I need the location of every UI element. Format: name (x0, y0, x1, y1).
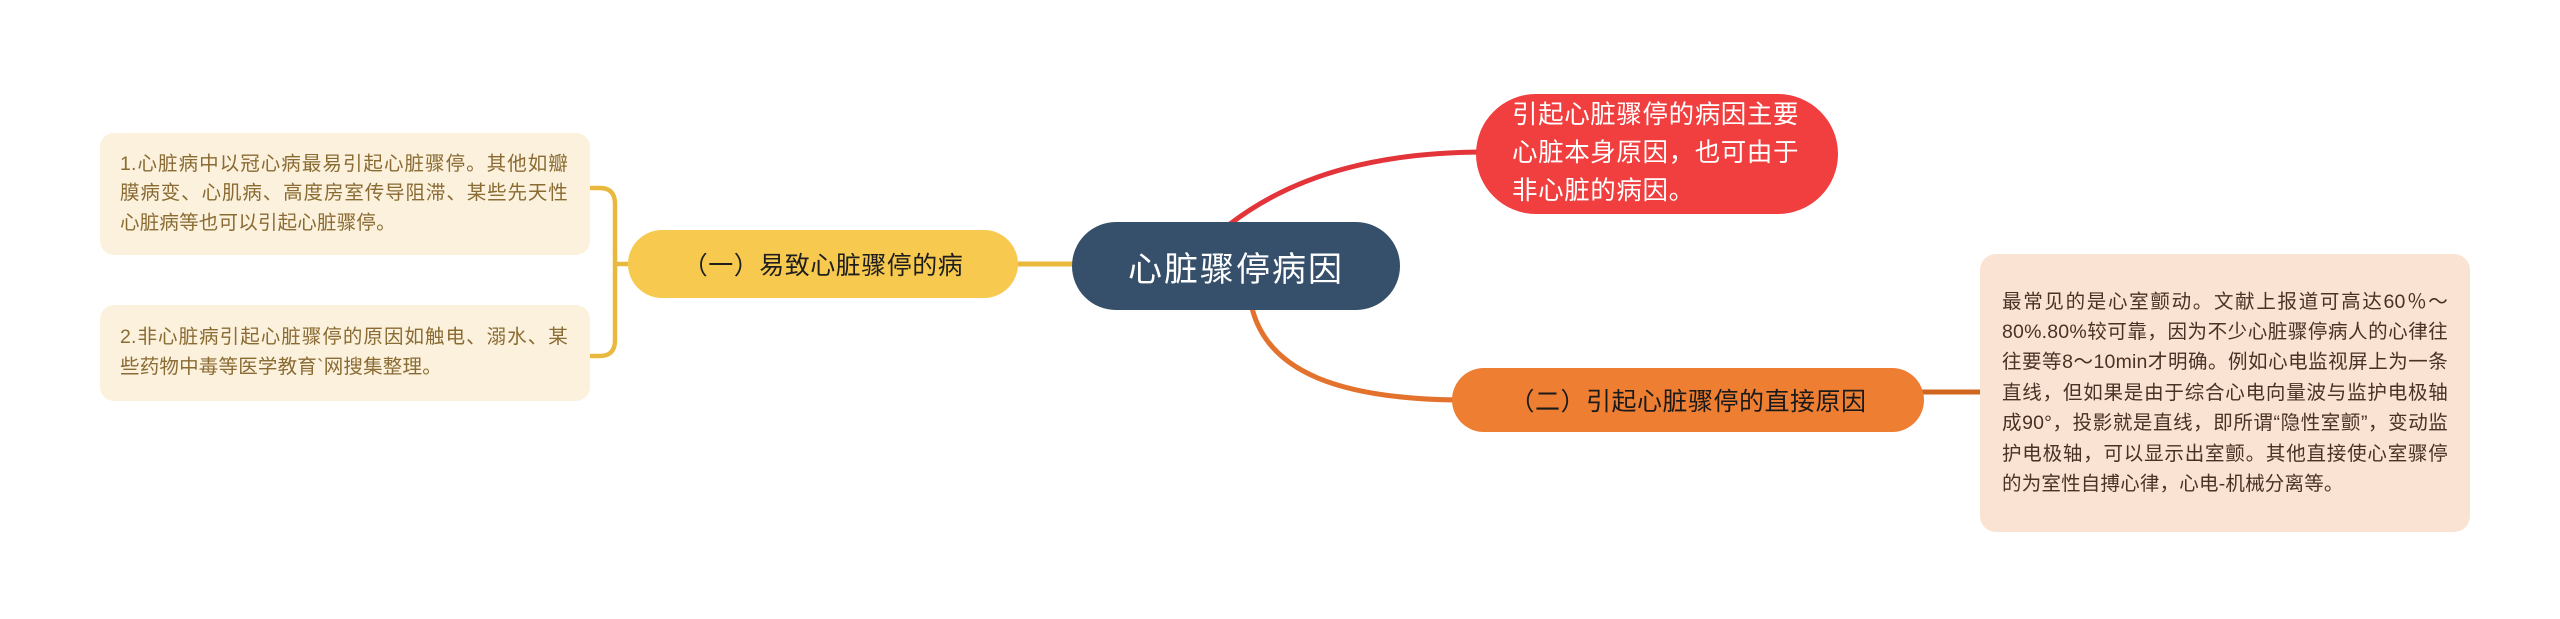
leaf-card-1-text: 1.心脏病中以冠心病最易引起心脏骤停。其他如瓣膜病变、心肌病、高度房室传导阻滞、… (120, 150, 568, 239)
root-node-label: 心脏骤停病因 (1128, 242, 1344, 291)
leaf-card-1[interactable]: 1.心脏病中以冠心病最易引起心脏骤停。其他如瓣膜病变、心肌病、高度房室传导阻滞、… (100, 133, 590, 255)
root-node[interactable]: 心脏骤停病因 (1072, 222, 1400, 310)
summary-bubble[interactable]: 引起心脏骤停的病因主要心脏本身原因，也可由于非心脏的病因。 (1476, 94, 1838, 214)
branch-node-two-label: （二）引起心脏骤停的直接原因 (1509, 382, 1866, 418)
edge-leaf2-bracket (588, 278, 615, 356)
leaf-card-3[interactable]: 最常见的是心室颤动。文献上报道可高达60％～80%.80%较可靠，因为不少心脏骤… (1980, 254, 2470, 532)
leaf-card-2[interactable]: 2.非心脏病引起心脏骤停的原因如触电、溺水、某些药物中毒等医学教育`网搜集整理。 (100, 305, 590, 401)
branch-node-one-label: （一）易致心脏骤停的病 (683, 246, 964, 282)
leaf-card-2-text: 2.非心脏病引起心脏骤停的原因如触电、溺水、某些药物中毒等医学教育`网搜集整理。 (120, 323, 568, 382)
mindmap-canvas: 1.心脏病中以冠心病最易引起心脏骤停。其他如瓣膜病变、心肌病、高度房室传导阻滞、… (0, 0, 2560, 619)
summary-bubble-text: 引起心脏骤停的病因主要心脏本身原因，也可由于非心脏的病因。 (1512, 97, 1802, 210)
branch-node-one[interactable]: （一）易致心脏骤停的病 (628, 230, 1018, 298)
leaf-card-3-text: 最常见的是心室颤动。文献上报道可高达60％～80%.80%较可靠，因为不少心脏骤… (2002, 287, 2448, 500)
edge-root-to-summary (1230, 152, 1486, 224)
edge-leaf1-bracket (588, 188, 615, 250)
branch-node-two[interactable]: （二）引起心脏骤停的直接原因 (1452, 368, 1924, 432)
edge-root-to-branch-two (1252, 308, 1466, 400)
